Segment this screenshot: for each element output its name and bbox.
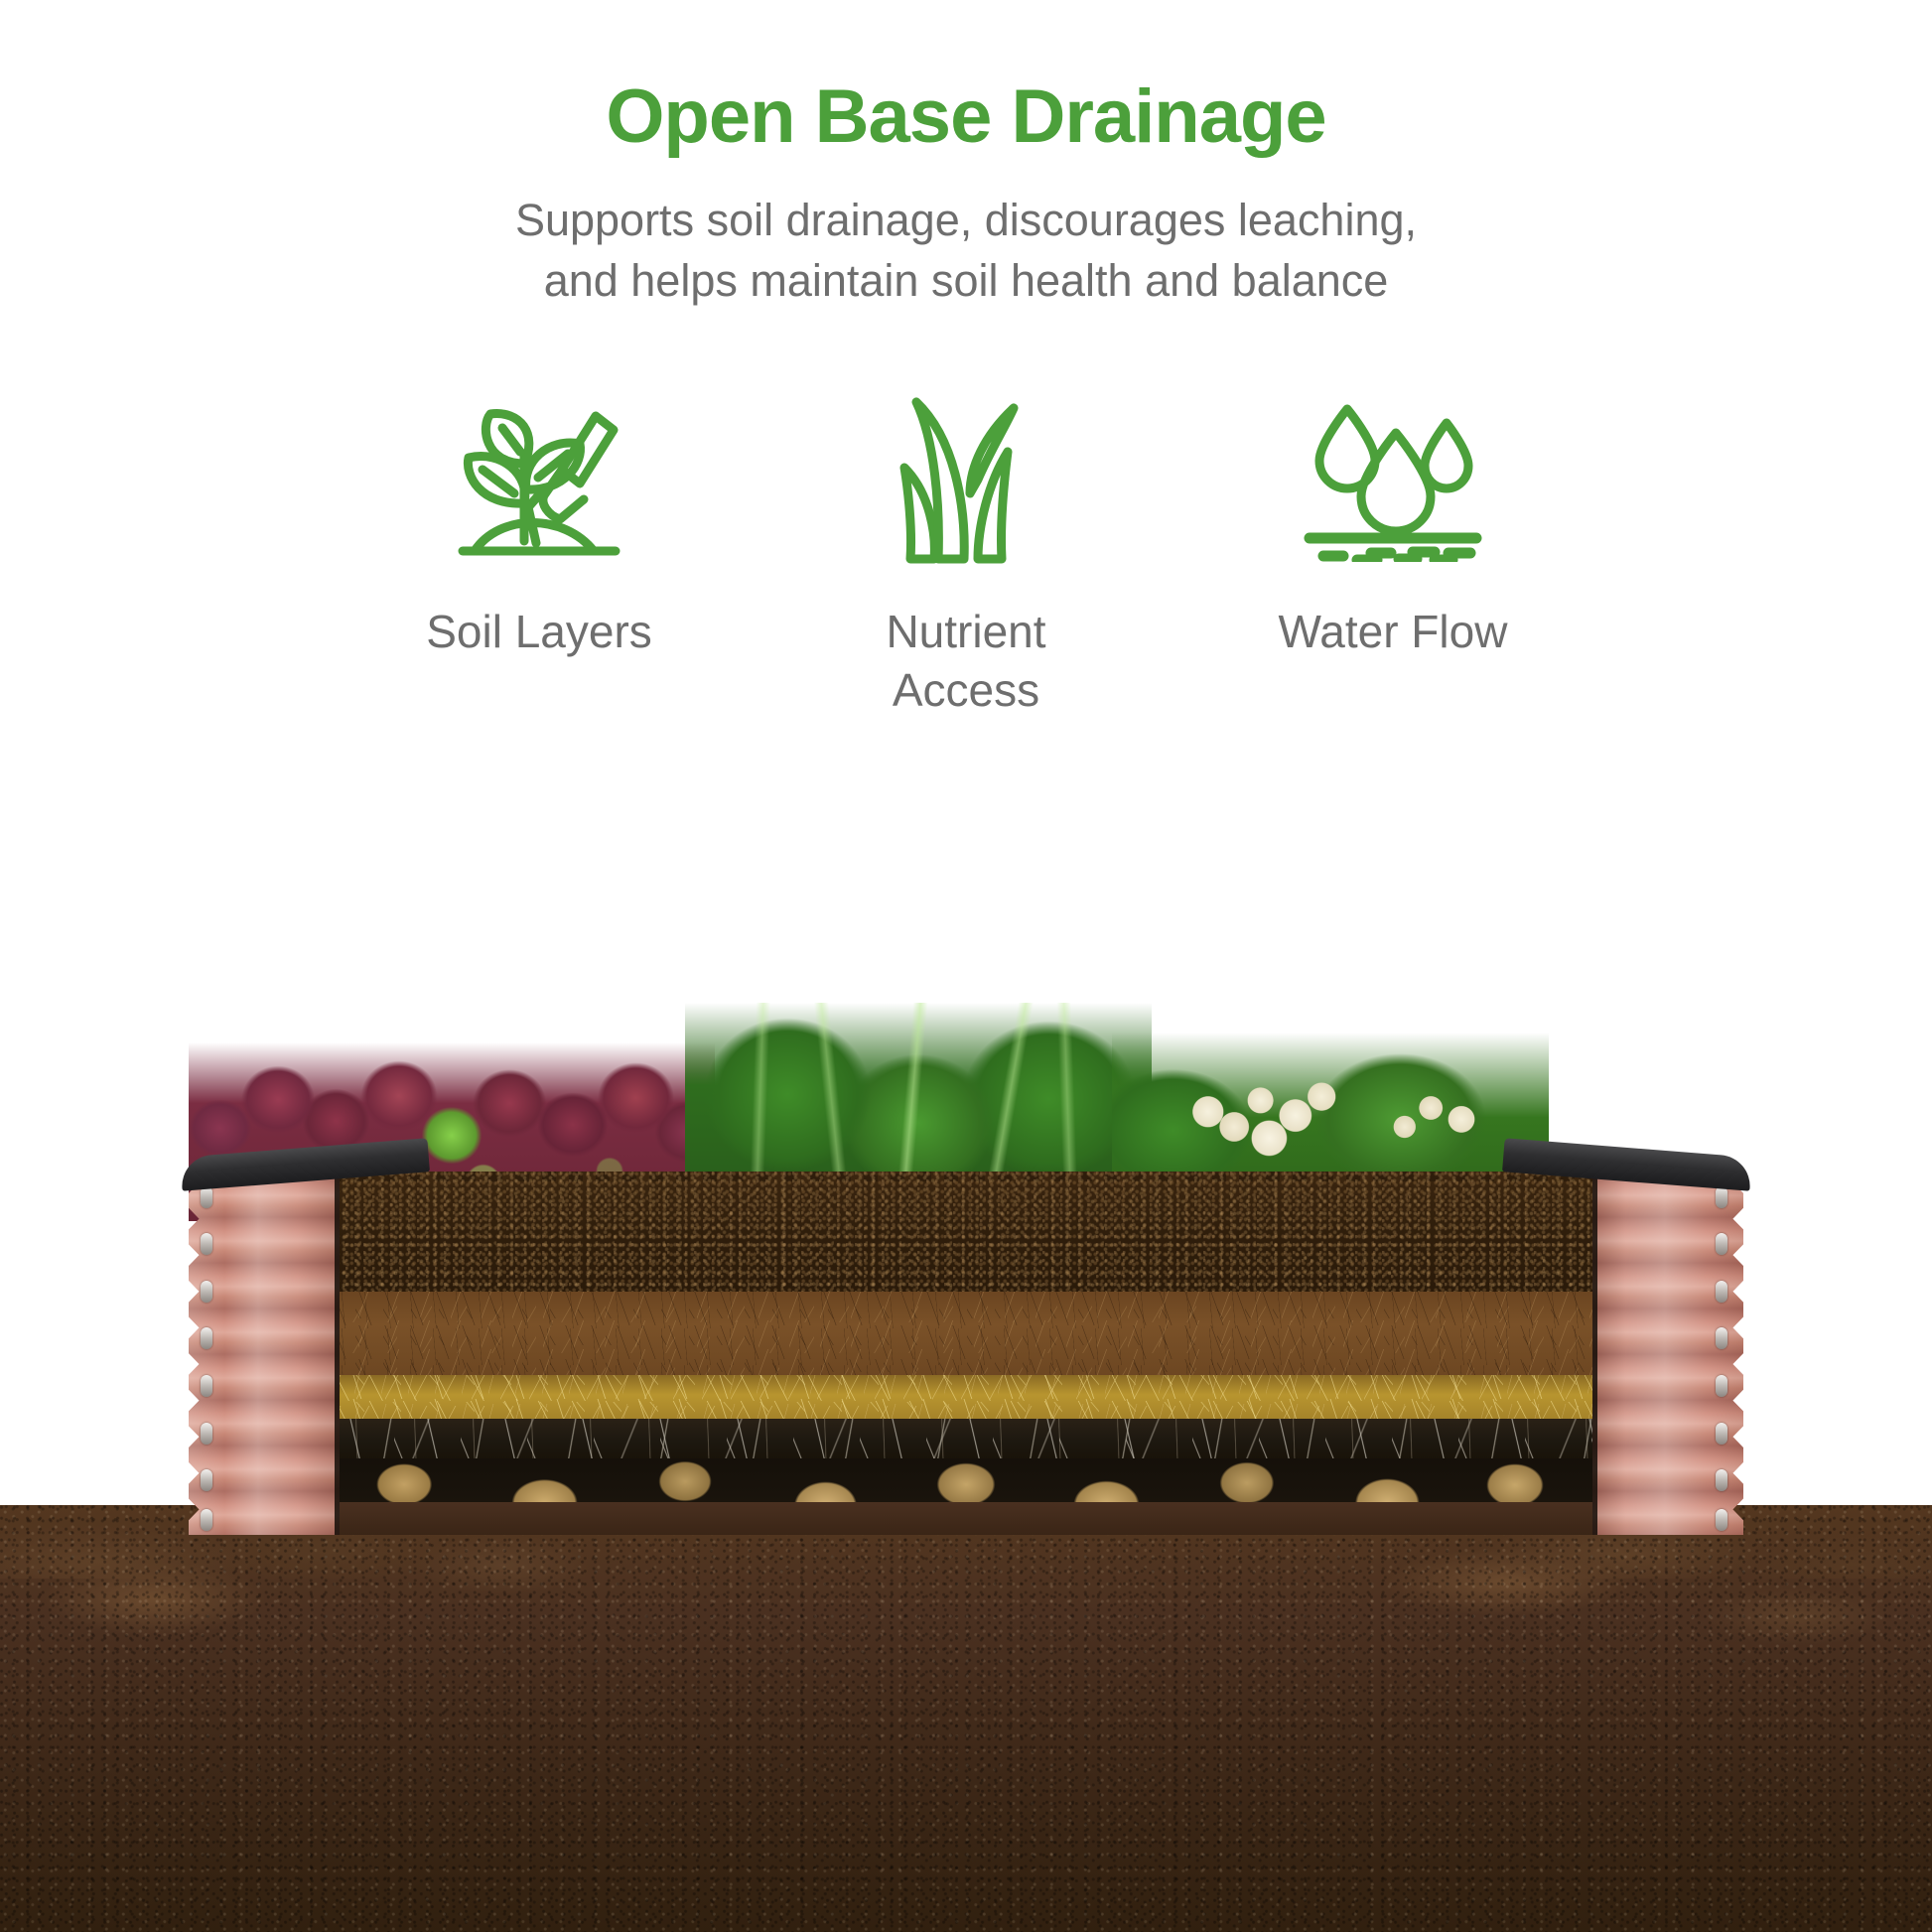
feature-item-soil-layers: Soil Layers xyxy=(326,382,753,661)
rivet-column-right xyxy=(1716,1172,1731,1535)
bed-panel-left xyxy=(189,1172,340,1535)
rivet xyxy=(1716,1233,1727,1255)
soil-grain-texture xyxy=(0,1505,1932,1932)
soil-layer-base-ground xyxy=(328,1502,1604,1535)
water-droplets-over-soil-line-icon xyxy=(1296,382,1490,577)
raised-garden-bed-illustration xyxy=(0,923,1932,1932)
page-subtitle-line-1: Supports soil drainage, discourages leac… xyxy=(0,191,1932,251)
bed-panel-right xyxy=(1592,1172,1743,1535)
rivet xyxy=(1716,1375,1727,1397)
feature-list: Soil Layers Nutrient Access xyxy=(0,382,1932,720)
rivet xyxy=(201,1327,212,1349)
surrounding-garden-soil xyxy=(0,1505,1932,1932)
header: Open Base Drainage Supports soil drainag… xyxy=(0,0,1932,311)
grass-blades-icon xyxy=(879,382,1053,577)
rivet xyxy=(201,1281,212,1303)
rivet xyxy=(1716,1281,1727,1303)
feature-label-soil-layers: Soil Layers xyxy=(426,603,652,661)
soil-layer-straw xyxy=(328,1375,1604,1419)
feature-label-water-flow: Water Flow xyxy=(1279,603,1508,661)
soil-layer-twigs xyxy=(328,1419,1604,1458)
seedling-with-trowel-icon xyxy=(445,382,633,577)
raised-bed-body xyxy=(189,1172,1743,1535)
rivet xyxy=(1716,1509,1727,1531)
rivet xyxy=(201,1509,212,1531)
soil-layer-mulch xyxy=(328,1292,1604,1375)
rivet xyxy=(201,1233,212,1255)
page-subtitle: Supports soil drainage, discourages leac… xyxy=(0,191,1932,312)
rivet xyxy=(1716,1469,1727,1491)
page-title: Open Base Drainage xyxy=(0,77,1932,157)
rivet xyxy=(201,1375,212,1397)
soil-cross-section xyxy=(328,1172,1604,1535)
rivet xyxy=(1716,1327,1727,1349)
panel-seam-left xyxy=(335,1172,340,1535)
rivet xyxy=(1716,1423,1727,1445)
rivet xyxy=(201,1423,212,1445)
rivet-column-left xyxy=(201,1172,216,1535)
feature-item-water-flow: Water Flow xyxy=(1179,382,1606,661)
panel-seam-right xyxy=(1592,1172,1597,1535)
feature-label-nutrient-access: Nutrient Access xyxy=(817,603,1115,720)
page-subtitle-line-2: and helps maintain soil health and balan… xyxy=(0,251,1932,312)
feature-item-nutrient-access: Nutrient Access xyxy=(753,382,1179,720)
rivet xyxy=(201,1469,212,1491)
soil-layer-topsoil xyxy=(328,1172,1604,1292)
